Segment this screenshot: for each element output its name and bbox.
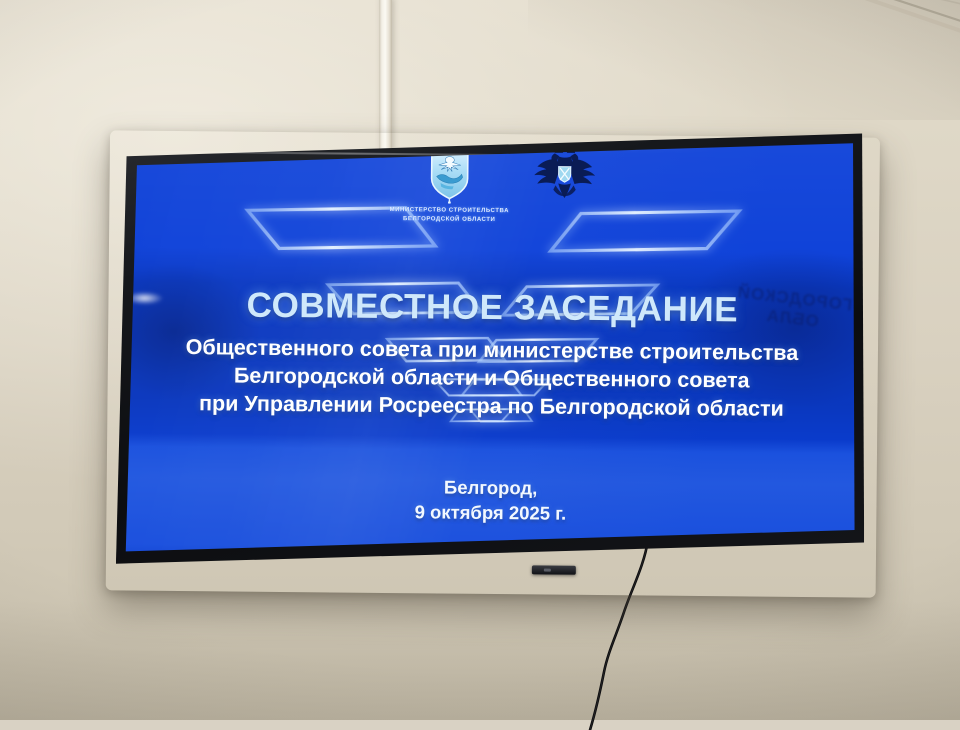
photo-vignette xyxy=(0,0,960,720)
